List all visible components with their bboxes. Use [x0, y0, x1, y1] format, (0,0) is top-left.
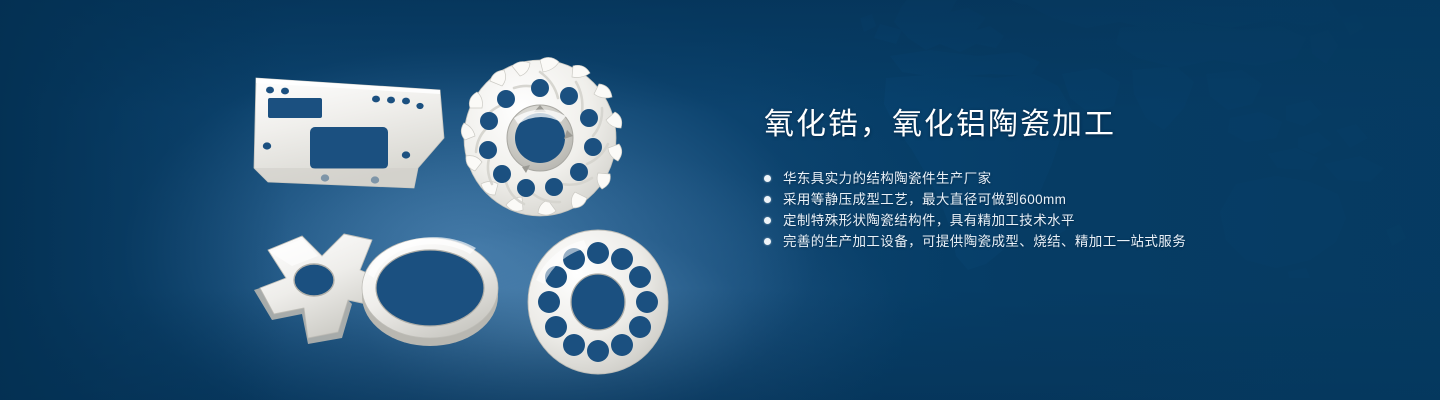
list-item: 华东具实力的结构陶瓷件生产厂家: [764, 168, 1364, 189]
feature-text: 华东具实力的结构陶瓷件生产厂家: [783, 168, 992, 189]
feature-list: 华东具实力的结构陶瓷件生产厂家 采用等静压成型工艺，最大直径可做到600mm 定…: [764, 168, 1364, 252]
ceramic-ring: [352, 226, 512, 356]
feature-text: 完善的生产加工设备，可提供陶瓷成型、烧结、精加工一站式服务: [783, 231, 1186, 252]
bullet-dot-icon: [764, 196, 771, 203]
ceramic-machined-plate: [248, 72, 448, 202]
bullet-dot-icon: [764, 217, 771, 224]
ceramic-impeller: [452, 52, 632, 228]
ceramic-perforated-disc: [518, 222, 682, 384]
page-title: 氧化锆，氧化铝陶瓷加工: [764, 104, 1364, 146]
feature-text: 定制特殊形状陶瓷结构件，具有精加工技术水平: [783, 210, 1075, 231]
feature-text: 采用等静压成型工艺，最大直径可做到600mm: [783, 189, 1066, 210]
bullet-dot-icon: [764, 175, 771, 182]
list-item: 定制特殊形状陶瓷结构件，具有精加工技术水平: [764, 210, 1364, 231]
promo-banner: 氧化锆，氧化铝陶瓷加工 华东具实力的结构陶瓷件生产厂家 采用等静压成型工艺，最大…: [0, 0, 1440, 400]
banner-copy: 氧化锆，氧化铝陶瓷加工 华东具实力的结构陶瓷件生产厂家 采用等静压成型工艺，最大…: [764, 104, 1364, 252]
list-item: 采用等静压成型工艺，最大直径可做到600mm: [764, 189, 1364, 210]
bullet-dot-icon: [764, 238, 771, 245]
list-item: 完善的生产加工设备，可提供陶瓷成型、烧结、精加工一站式服务: [764, 231, 1364, 252]
product-image-group: [0, 0, 720, 400]
